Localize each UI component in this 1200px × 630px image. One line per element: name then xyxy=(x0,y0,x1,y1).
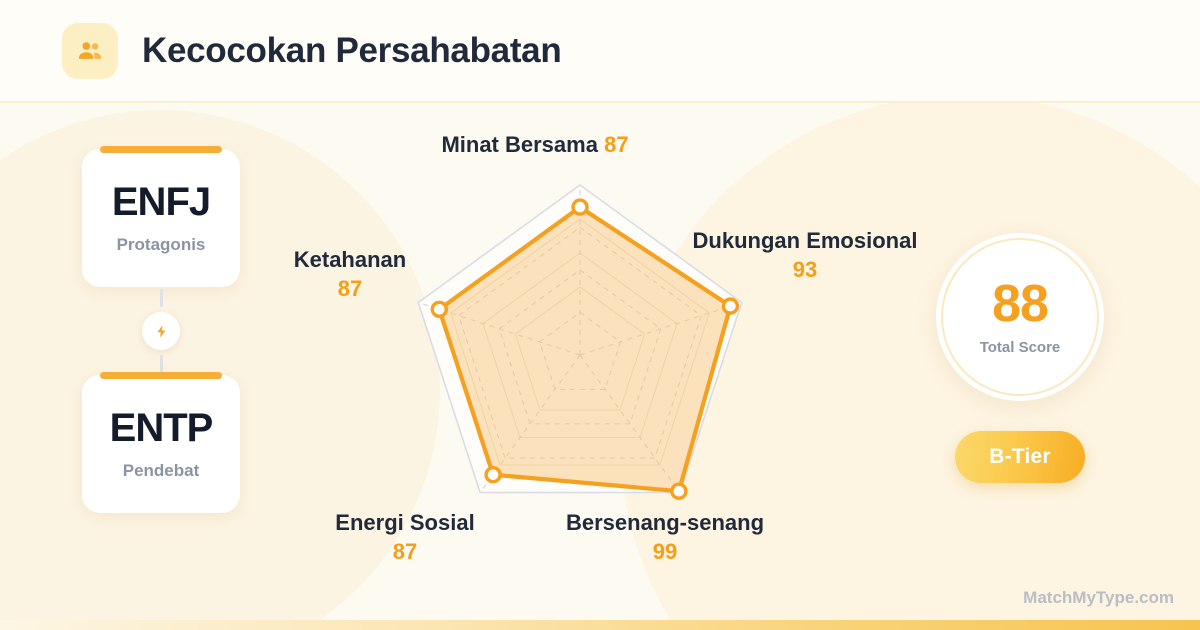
axis-value-dukungan-emosional: 93 xyxy=(690,258,920,283)
infographic-card: Kecocokan Persahabatan ENFJ Protagonis E… xyxy=(0,0,1200,630)
axis-label-energi-sosial-text: Energi Sosial xyxy=(335,510,474,535)
connector-line-bottom xyxy=(160,355,163,373)
axis-label-bersenang-senang-text: Bersenang-senang xyxy=(566,510,764,535)
radar-chart: Minat Bersama 87 Dukungan Emosional 93 B… xyxy=(250,103,920,630)
total-score-value: 88 xyxy=(992,278,1048,330)
type-connector xyxy=(82,287,240,375)
page-title: Kecocokan Persahabatan xyxy=(142,31,561,71)
header-bar: Kecocokan Persahabatan xyxy=(0,0,1200,103)
type-name-first: Protagonis xyxy=(117,235,206,255)
axis-label-dukungan-emosional-text: Dukungan Emosional xyxy=(693,228,918,253)
type-code-second: ENTP xyxy=(110,408,213,448)
type-name-second: Pendebat xyxy=(123,461,200,481)
brand-watermark: MatchMyType.com xyxy=(1023,588,1174,608)
bottom-accent-bar xyxy=(0,620,1200,630)
axis-label-minat-bersama: Minat Bersama 87 xyxy=(365,133,705,158)
axis-label-dukungan-emosional: Dukungan Emosional 93 xyxy=(690,229,920,282)
type-pair: ENFJ Protagonis ENTP Pendebat xyxy=(82,149,240,513)
axis-label-energi-sosial: Energi Sosial 87 xyxy=(255,511,555,564)
content-area: ENFJ Protagonis ENTP Pendebat xyxy=(0,103,1200,630)
axis-label-ketahanan-text: Ketahanan xyxy=(294,247,406,272)
connector-line-top xyxy=(160,289,163,307)
type-card-second[interactable]: ENTP Pendebat xyxy=(82,375,240,513)
type-code-first: ENFJ xyxy=(112,182,210,222)
total-score-circle: 88 Total Score xyxy=(936,233,1104,401)
axis-value-ketahanan: 87 xyxy=(235,277,465,302)
lightning-bolt-icon xyxy=(142,312,180,350)
axis-value-energi-sosial: 87 xyxy=(255,540,555,565)
axis-label-ketahanan: Ketahanan 87 xyxy=(235,248,465,301)
axis-value-minat-bersama: 87 xyxy=(604,132,628,157)
score-panel: 88 Total Score B-Tier xyxy=(920,233,1120,483)
tier-badge: B-Tier xyxy=(955,431,1085,483)
type-card-first[interactable]: ENFJ Protagonis xyxy=(82,149,240,287)
axis-label-minat-bersama-text: Minat Bersama xyxy=(441,132,598,157)
people-group-icon xyxy=(62,23,118,79)
total-score-caption: Total Score xyxy=(980,339,1061,356)
